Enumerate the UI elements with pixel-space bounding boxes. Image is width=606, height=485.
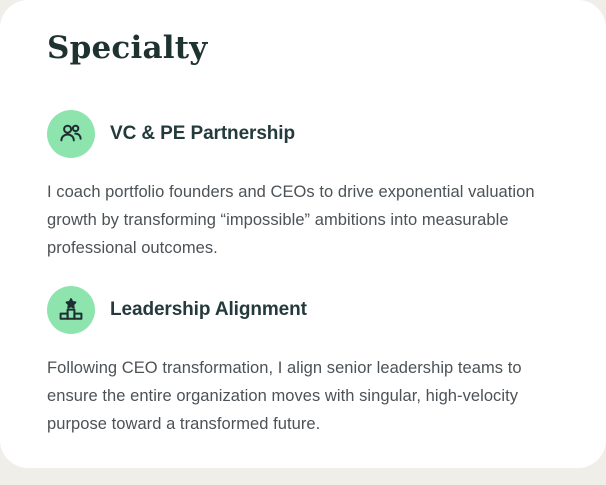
specialty-item-heading: Leadership Alignment — [110, 299, 307, 321]
page-title: Specialty — [47, 30, 207, 67]
two-people-icon — [47, 110, 95, 158]
podium-star-icon — [47, 286, 95, 334]
specialty-item-header: VC & PE Partnership — [47, 110, 567, 158]
specialty-item-description: Following CEO transformation, I align se… — [47, 354, 567, 438]
specialty-card: Specialty VC & PE Partnership I coach po… — [0, 0, 606, 468]
specialty-item-heading: VC & PE Partnership — [110, 123, 295, 145]
specialty-item-header: Leadership Alignment — [47, 286, 567, 334]
specialty-item-leadership-alignment: Leadership Alignment Following CEO trans… — [47, 286, 567, 438]
specialty-item-description: I coach portfolio founders and CEOs to d… — [47, 178, 562, 262]
page-root: Specialty VC & PE Partnership I coach po… — [0, 0, 606, 485]
specialty-item-vc-pe-partnership: VC & PE Partnership I coach portfolio fo… — [47, 110, 567, 262]
